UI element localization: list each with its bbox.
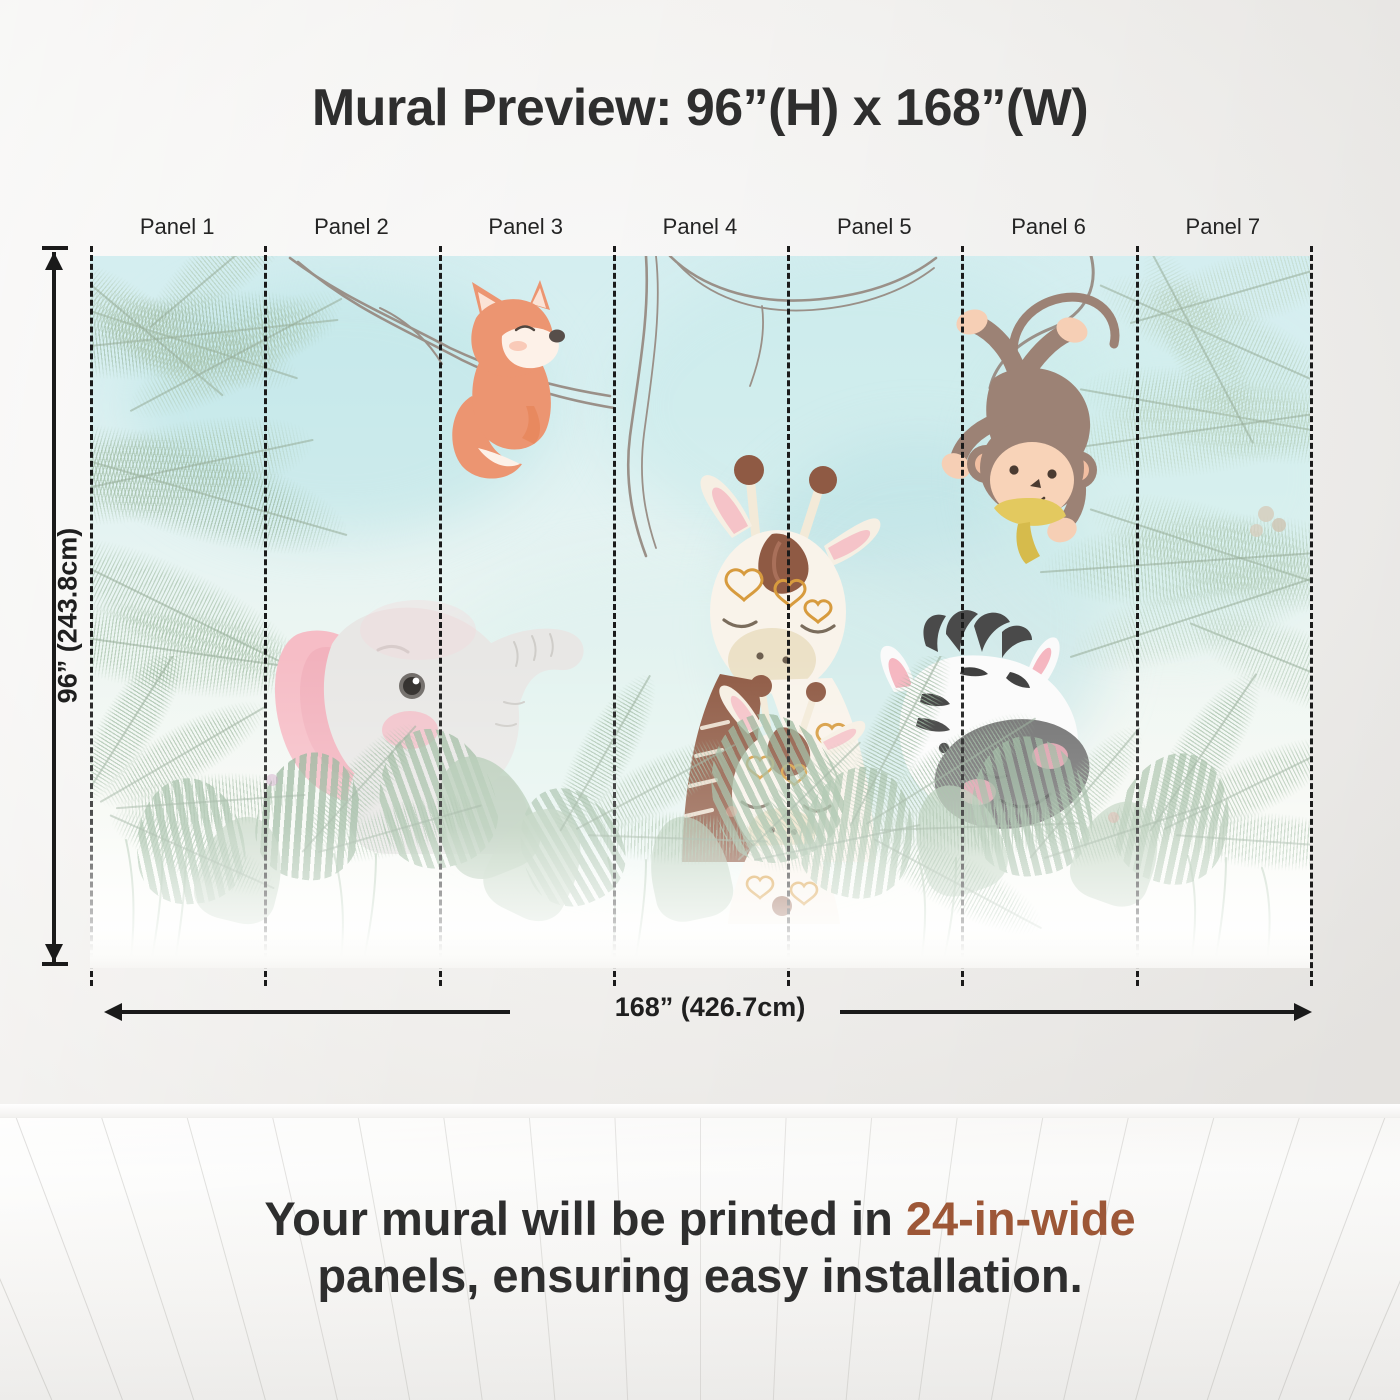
- panel-label-4: Panel 4: [613, 214, 787, 240]
- height-dimension-cap-bottom: [42, 962, 68, 966]
- caption-accent: 24-in-wide: [906, 1192, 1136, 1245]
- fox-illustration: [442, 278, 572, 488]
- caption: Your mural will be printed in 24-in-wide…: [80, 1190, 1320, 1305]
- height-dimension-label: 96” (243.8cm): [53, 486, 84, 746]
- mural-bottom-fade: [90, 928, 1310, 968]
- vine-top-arc: [670, 256, 936, 301]
- panel-label-2: Panel 2: [264, 214, 438, 240]
- panel-label-6: Panel 6: [961, 214, 1135, 240]
- monkey-illustration: [922, 318, 1122, 538]
- panel-label-1: Panel 1: [90, 214, 264, 240]
- page-title: Mural Preview: 96”(H) x 168”(W): [0, 78, 1400, 138]
- width-dimension-label: 168” (426.7cm): [520, 992, 900, 1023]
- width-dimension-line-left: [110, 1010, 510, 1014]
- panel-label-3: Panel 3: [439, 214, 613, 240]
- height-dimension-cap-top: [42, 246, 68, 250]
- foliage-band-bottom: [90, 656, 1310, 968]
- width-dimension-line-right: [840, 1010, 1300, 1014]
- mural-preview-image: [90, 256, 1310, 968]
- caption-line1-before: Your mural will be printed in: [264, 1192, 906, 1245]
- panel-label-7: Panel 7: [1136, 214, 1310, 240]
- caption-line2: panels, ensuring easy installation.: [317, 1249, 1082, 1302]
- panel-label-row: Panel 1Panel 2Panel 3Panel 4Panel 5Panel…: [90, 214, 1310, 248]
- panel-label-5: Panel 5: [787, 214, 961, 240]
- vine-center: [628, 256, 647, 556]
